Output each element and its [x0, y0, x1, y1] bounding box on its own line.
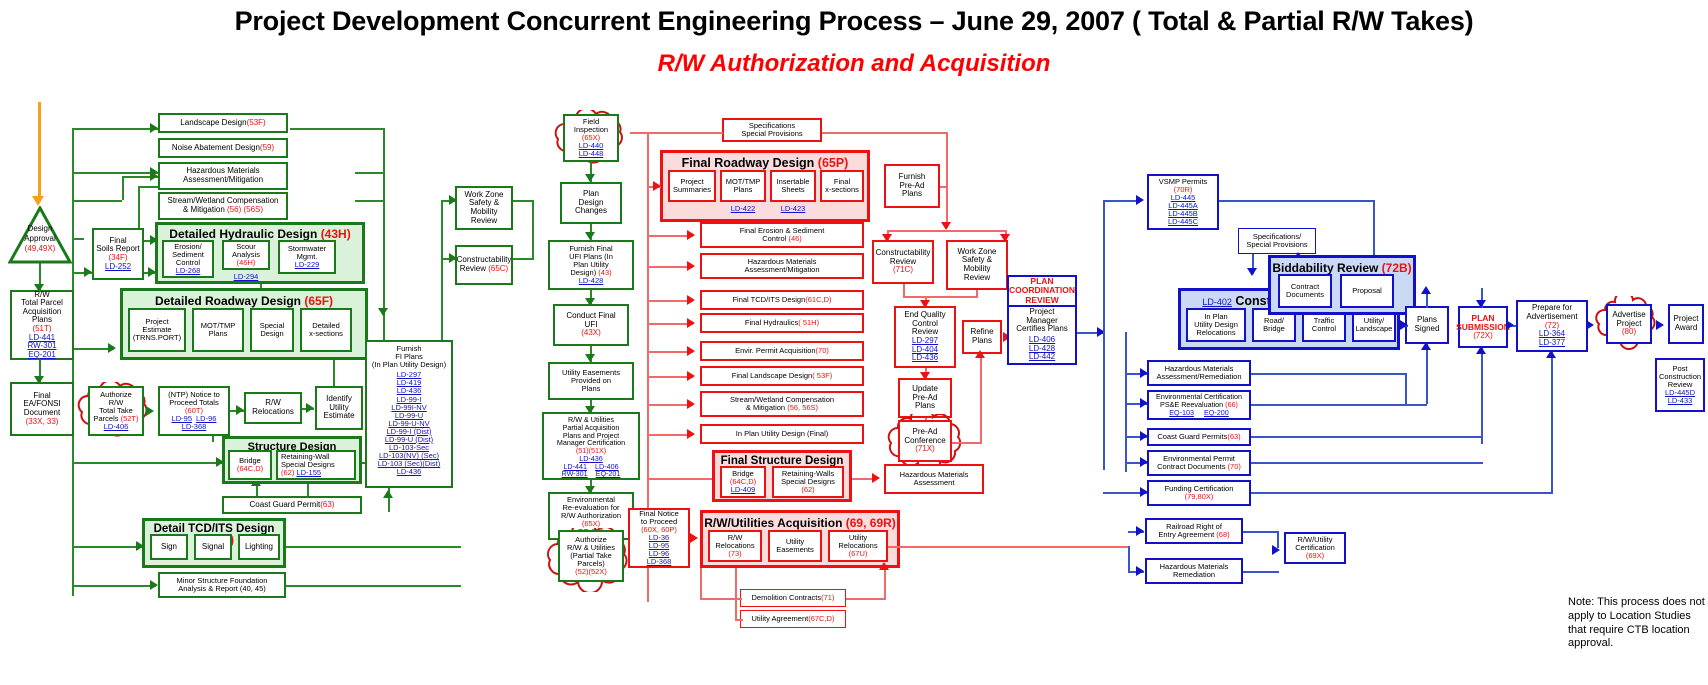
- retaining-wall-box: Retaining-Wall Special Designs (62) LD-1…: [276, 450, 356, 480]
- field-inspection-node: Field Inspection (65X) LD-440 LD-448: [563, 114, 619, 162]
- t2: Special Provisions: [741, 130, 802, 138]
- t1: Final TCD/ITS Design: [732, 296, 805, 304]
- hazmat-assessment-node: Hazardous Materials Assessment: [884, 464, 984, 494]
- bidd-title: Biddability Review: [1272, 261, 1381, 275]
- t2: Assessment/Remediation: [1156, 373, 1241, 381]
- code: (68): [1216, 530, 1229, 539]
- plans-signed-node: Plans Signed: [1405, 306, 1449, 344]
- entry-line: [38, 102, 41, 200]
- code: (63): [320, 501, 334, 510]
- t1: Envir. Permit Acquisition: [735, 347, 815, 355]
- code: (62): [801, 486, 814, 494]
- post-construction-review-node: Post Construction Review LD-445D LD-433: [1655, 358, 1705, 412]
- ln-ps-dn: [1426, 344, 1428, 404]
- landscape-design-node: Landscape Design (53F): [158, 113, 288, 133]
- t1: Proposal: [1352, 287, 1382, 295]
- label: Utility Agreement: [752, 615, 809, 623]
- ar-pdc-ufi: [585, 232, 595, 240]
- ar-ps-bidd: [1421, 286, 1431, 294]
- design-approval-l2: Approval: [8, 234, 72, 243]
- utility-easements-red-box: Utility Easements: [768, 530, 822, 562]
- code: (63): [1227, 433, 1240, 441]
- ref-2[interactable]: LD-448: [579, 150, 604, 158]
- ln-wz-f: [532, 200, 534, 258]
- t2: Assessment: [914, 479, 955, 487]
- work-zone-review-2-node: Work Zone Safety & Mobility Review: [946, 240, 1008, 290]
- ar-rl6: [687, 399, 695, 409]
- t2: Plans: [972, 337, 992, 346]
- t3: Plans: [582, 385, 601, 393]
- ln-hzr1: [1128, 546, 1130, 571]
- ln-wz-g: [512, 258, 534, 260]
- ar-rl3: [687, 318, 695, 328]
- ar-spec-down: [941, 222, 951, 230]
- t1: Final Hydraulics: [745, 319, 798, 327]
- ref[interactable]: LD-428: [579, 277, 604, 285]
- ref[interactable]: LD-409: [731, 486, 756, 494]
- code: (65C): [488, 264, 508, 273]
- furnish-pre-ad-node: Furnish Pre-Ad Plans: [884, 164, 940, 208]
- cp-ref[interactable]: LD-402: [1202, 297, 1232, 307]
- label: Landscape Design: [180, 119, 246, 128]
- t2: Plans: [734, 186, 753, 194]
- rw-relocations-red-box: R/W Relocations (73): [708, 530, 762, 562]
- ar-cfu-ue: [585, 354, 595, 362]
- special-design-box: Special Design: [250, 308, 294, 352]
- code: (79,80X): [1185, 493, 1214, 501]
- roadway-code: (65F): [304, 294, 333, 308]
- code: (52)(52X): [575, 568, 607, 576]
- update-pre-ad-node: Update Pre-Ad Plans: [898, 378, 952, 418]
- rw-utility-certification-node: R/W/Utility Certification (69X): [1284, 532, 1346, 564]
- code: (56, 56S): [787, 403, 818, 412]
- rw-total-parcel-node: R/W Total Parcel Acquisition Plans (51T)…: [10, 290, 74, 360]
- t2a: Review: [460, 264, 488, 273]
- contract-documents-box: Contract Documents: [1278, 274, 1332, 308]
- t2: Entry Agreement: [1158, 530, 1216, 539]
- t1: Final Landscape Design: [732, 372, 812, 380]
- t2: Special Provisions: [1246, 241, 1307, 249]
- mot-tmp-plans-box: MOT/TMP Plans: [720, 170, 766, 202]
- ln-ret-c: [355, 172, 385, 174]
- ln-spec-right: [822, 132, 948, 134]
- ln-rwuc1: [1243, 531, 1279, 533]
- authorize-rw-partial-node: Authorize R/W & Utilities (Partial Take …: [558, 530, 624, 582]
- ln-fc-prep: [1551, 352, 1553, 492]
- code: (80): [1622, 328, 1636, 337]
- ref-3[interactable]: LD-436: [912, 354, 938, 363]
- final-retaining-box: Retaining-Walls Special Designs (62): [772, 466, 844, 498]
- code: (73): [728, 550, 741, 558]
- t2: Design: [260, 330, 283, 338]
- ln-spec-down: [946, 132, 948, 228]
- constructability-71c-node: Constructability Review (71C): [872, 240, 934, 284]
- lighting-box: Lighting: [238, 534, 280, 560]
- ar-fi-up: [383, 490, 393, 498]
- ref[interactable]: LD-268: [176, 267, 201, 275]
- ref-2[interactable]: EQ-200: [1204, 409, 1229, 417]
- ar-vsmp: [1136, 195, 1144, 205]
- ln-dem1: [700, 568, 702, 600]
- code: (70): [1228, 462, 1241, 471]
- blue-bus: [1103, 200, 1105, 470]
- ar-rl4: [687, 346, 695, 356]
- ln-rw-right: [888, 546, 1128, 548]
- green-bus-tap: [72, 238, 84, 240]
- label: Coast Guard Permit: [250, 501, 321, 510]
- insertable-sheets-box: Insertable Sheets: [770, 170, 816, 202]
- t2: Summaries: [673, 186, 711, 194]
- work-zone-review-node: Work Zone Safety & Mobility Review: [455, 186, 513, 230]
- ln-wzjoin: [976, 290, 978, 298]
- t2: Award: [1675, 324, 1698, 333]
- ln-hz-ps: [1251, 373, 1407, 375]
- minor-structure-node: Minor Structure Foundation Analysis & Re…: [158, 572, 286, 598]
- t4: Review: [964, 274, 990, 283]
- ar-adv-award: [1656, 320, 1664, 330]
- ar-rl0: [687, 230, 695, 240]
- t2: Plans: [209, 330, 228, 338]
- prepare-advertisement-node: Prepare for Advertisement (72) LD-364 LD…: [1516, 300, 1588, 352]
- entry-arrow: [32, 196, 44, 206]
- furnish-final-ufi-node: Furnish Final UFI Plans (In Plan Utility…: [548, 240, 634, 290]
- sign-box: Sign: [150, 534, 188, 560]
- mot-tmp-box: MOT/TMP Plans: [192, 308, 244, 352]
- code: (64C,D): [237, 465, 263, 473]
- ref[interactable]: LD-252: [105, 263, 131, 272]
- page-title: Project Development Concurrent Engineeri…: [0, 6, 1708, 37]
- blue-list-item-1: Environmental Certification PS&E Reevalu…: [1147, 390, 1251, 420]
- ln-cg-psub: [1251, 436, 1483, 438]
- t2: Signed: [1415, 325, 1440, 334]
- ref-13[interactable]: LD-436: [397, 468, 422, 476]
- plan-submission-node: PLAN SUBMISSION (72X): [1458, 306, 1508, 348]
- ln-ep-psub: [1251, 462, 1483, 464]
- code: (56) (56S): [227, 205, 263, 214]
- t2: Control: [762, 234, 788, 243]
- signal-box: Signal: [194, 534, 232, 560]
- ln-dem4: [884, 566, 886, 600]
- ar-ntp-rw: [236, 405, 244, 415]
- ntp-notice-node: (NTP) Notice to Proceed Totals (60T) LD-…: [158, 386, 230, 436]
- design-approval-l1: Design: [8, 224, 72, 233]
- ref-2[interactable]: LD-377: [1539, 339, 1565, 348]
- t2: Analysis & Report (40, 45): [178, 585, 266, 593]
- code: ( 53F): [812, 372, 832, 380]
- t2: & Mitigation: [746, 403, 787, 412]
- t3: Plans: [915, 402, 935, 411]
- t3: Estimate: [323, 412, 354, 421]
- ar-ret: [378, 308, 388, 316]
- specs-special-provisions-node: Specifications Special Provisions: [722, 118, 822, 142]
- ref-b2[interactable]: EQ-201: [596, 470, 621, 478]
- code: (59): [260, 144, 274, 153]
- ln-minor-out: [286, 585, 461, 587]
- bridge-box: Bridge (64C,D): [228, 450, 272, 480]
- end-quality-node: End Quality Control Review LD-297 LD-404…: [894, 306, 956, 368]
- t3: Certifies Plans: [1016, 325, 1068, 334]
- insertable-ref[interactable]: LD-423: [770, 204, 816, 213]
- ln-fsd: [647, 478, 712, 480]
- rw-utilities-partial-node: R/W & Utilities Partial Acquisition Plan…: [542, 412, 640, 480]
- t2: Assessment/Mitigation: [744, 266, 819, 274]
- authorize-rw-total-node: Authorize R/W Total Take Parcels (52T) L…: [88, 386, 144, 436]
- t3: REVIEW: [1025, 296, 1059, 305]
- blue-specs-special-node: Specifications/ Special Provisions: [1238, 228, 1316, 254]
- utility-relocations-red-box: Utility Relocations (67U): [828, 530, 888, 562]
- ln-tcd-out: [286, 546, 461, 548]
- t2: x-sections: [309, 330, 343, 338]
- ar-psub-up: [1476, 346, 1486, 354]
- hazmat-node: Hazardous Materials Assessment/Mitigatio…: [158, 162, 288, 190]
- ar-rwuc: [1272, 545, 1280, 555]
- ar-auth-ntp: [146, 406, 154, 416]
- ln-wz-e: [512, 200, 534, 202]
- refine-plans-node: Refine Plans: [962, 320, 1002, 354]
- ar-prep-adv: [1586, 320, 1594, 330]
- rwua-title: R/W/Utilities Acquisition: [704, 516, 846, 530]
- noise-abatement-node: Noise Abatement Design (59): [158, 138, 288, 158]
- ln-fc-line: [1251, 492, 1553, 494]
- t2: Review (65C): [460, 265, 508, 274]
- ln-ua2: [735, 619, 743, 621]
- t4: Review: [471, 217, 497, 226]
- ref-b1[interactable]: RW-301: [562, 470, 588, 478]
- t3: (In Plan Utility Design): [372, 361, 446, 369]
- ar-psub-prep: [1506, 320, 1514, 330]
- t2: & Mitigation (56) (56S): [183, 206, 263, 215]
- blue-list-item-4: Funding Certification (79,80X): [1147, 480, 1251, 506]
- ln-minor: [72, 585, 156, 587]
- code: ( 51H): [798, 319, 819, 327]
- red-list-item-6: Stream/Wetland Compensation & Mitigation…: [700, 391, 864, 417]
- ln-bus-cr: [887, 230, 1007, 232]
- ref[interactable]: LD-229: [295, 261, 320, 269]
- hydraulic-code: (43H): [321, 227, 351, 241]
- ar-fi-pdc: [585, 174, 595, 182]
- coast-guard-permit-node: Coast Guard Permit (63): [222, 496, 362, 514]
- t2a: & Mitigation: [183, 205, 227, 214]
- ln-noise: [72, 172, 158, 174]
- plan-coordination-review-header: PLAN COORDINATION REVIEW: [1007, 275, 1077, 307]
- ln-vsmp-out: [1219, 200, 1375, 202]
- ln-dem3: [846, 598, 886, 600]
- ln-ret-b: [290, 128, 385, 130]
- advertise-project-node: Advertise Project (80): [1606, 304, 1652, 344]
- ln-eq-ps: [1251, 404, 1427, 406]
- code: (43X): [581, 329, 601, 338]
- code: (33X, 33): [26, 418, 59, 427]
- ln-pac-ref2: [980, 354, 982, 444]
- ln-hz-ps2: [1405, 373, 1407, 405]
- t2: Assessment/Mitigation: [183, 176, 263, 185]
- t2: Relocations: [252, 408, 294, 417]
- ar-cp-ps: [1400, 320, 1408, 330]
- design-approval-code: (49,49X): [8, 244, 72, 253]
- diagram-canvas: Project Development Concurrent Engineeri…: [0, 0, 1708, 685]
- code: (46): [788, 234, 801, 243]
- t2: Easements: [776, 546, 814, 554]
- ref[interactable]: LD-155: [296, 468, 321, 477]
- blue-list-item-3: Environmental Permit Contract Documents …: [1147, 450, 1251, 476]
- utility-agreement-node: Utility Agreement (67C,D): [740, 610, 846, 628]
- ar-hz: [150, 171, 158, 181]
- code: (67C,D): [808, 615, 834, 623]
- ar-fn-rwu: [690, 533, 698, 543]
- scour-analysis-box: Scour Analysis (46H): [222, 240, 270, 270]
- rw-relocations-node: R/W Relocations: [244, 392, 302, 424]
- ar-hzr: [1136, 566, 1144, 576]
- ln-spec: [647, 132, 723, 134]
- ar-minor: [150, 580, 158, 590]
- red-list-item-2: Final TCD/ITS Design (61C,D): [700, 290, 864, 310]
- ln-psub-up: [1481, 348, 1483, 444]
- code: (69X): [1306, 552, 1324, 560]
- demolition-contracts-node: Demolition Contracts (71): [740, 589, 846, 607]
- ar-rr: [1136, 526, 1144, 536]
- design-approval-node: Design Approval (49,49X): [8, 206, 72, 264]
- final-soils-node: Final Soils Report (34F) LD-252: [92, 228, 144, 280]
- t2: Control: [1312, 325, 1336, 333]
- ar-bspec-dn: [1247, 268, 1257, 276]
- page-subtitle: R/W Authorization and Acquisition: [0, 50, 1708, 78]
- code: (71X): [915, 445, 935, 454]
- proposal-box: Proposal: [1340, 274, 1394, 308]
- ln-rwuc3: [1243, 571, 1279, 573]
- ln-ua1: [735, 568, 737, 619]
- constructability-65c-node: Constructability Review (65C): [455, 245, 513, 285]
- scour-ref[interactable]: LD-294: [222, 272, 270, 281]
- final-ea-fonsi-node: Final EA/FONSI Document (33X, 33): [10, 382, 74, 436]
- ln-structure: [72, 462, 222, 464]
- ln-sw-b: [138, 186, 158, 188]
- ar-frd: [653, 181, 661, 191]
- ref-1[interactable]: EQ-103: [1169, 409, 1194, 417]
- ln-crjoin2: [903, 296, 977, 298]
- t2: Landscape: [1356, 325, 1393, 333]
- t2: Documents: [1286, 291, 1324, 299]
- ref[interactable]: LD-406: [104, 423, 129, 431]
- t3: (TRNS.PORT): [133, 334, 181, 342]
- stream-wetland-node: Stream/Wetland Compensation & Mitigation…: [158, 192, 288, 220]
- label: Demolition Contracts: [752, 594, 822, 602]
- ar-fs-haz: [872, 473, 880, 483]
- t2: Sheets: [781, 186, 804, 194]
- ref-3[interactable]: LD-368: [182, 423, 207, 431]
- project-estimate-box: Project Estimate (TRNS.PORT): [128, 308, 186, 352]
- vsmp-permits-node: VSMP Permits (70R) LD-445 LD-445A LD-445…: [1147, 174, 1219, 230]
- code: (71C): [893, 266, 913, 275]
- ln-wz-spine: [441, 200, 443, 260]
- t1: In Plan Utility Design (Final): [736, 430, 829, 438]
- code: (72X): [1473, 332, 1493, 341]
- t1: Coast Guard Permits: [1157, 433, 1227, 441]
- ar-soils: [84, 267, 92, 277]
- t1: Sign: [161, 543, 177, 552]
- ln-hz-a: [72, 200, 122, 202]
- railroad-row-node: Railroad Right of Entry Agreement (68): [1145, 518, 1243, 544]
- t1: Lighting: [245, 543, 273, 552]
- plan-coordination-review-body: Project Manager Certifies Plans LD-406 L…: [1007, 305, 1077, 365]
- ar-fc-prep: [1546, 350, 1556, 358]
- roadway-title: Detailed Roadway Design: [155, 294, 304, 308]
- red-list-item-4: Envir. Permit Acquisition (70): [700, 341, 864, 361]
- ln-ret-d: [355, 200, 385, 202]
- ar-rl1: [687, 261, 695, 271]
- red-list-item-7: In Plan Utility Design (Final): [700, 424, 864, 444]
- ar-rl2: [687, 295, 695, 305]
- final-roadway-code: (65P): [818, 156, 849, 170]
- code: (53F): [247, 119, 266, 128]
- ln-pac-ref: [952, 442, 982, 444]
- ar-rl7: [687, 429, 695, 439]
- mot-ref[interactable]: LD-422: [720, 204, 766, 213]
- code: (46H): [237, 259, 256, 267]
- hydraulic-title: Detailed Hydraulic Design: [169, 227, 320, 241]
- stormwater-box: Stormwater Mgmt. LD-229: [278, 240, 336, 274]
- project-summaries-box: Project Summaries: [668, 170, 716, 202]
- erosion-sediment-box: Erosion/ Sediment Control LD-268: [162, 240, 214, 278]
- t3: Plans: [902, 190, 922, 199]
- ln-fpa: [940, 186, 948, 188]
- blue-list-item-0: Hazardous Materials Assessment/Remediati…: [1147, 360, 1251, 386]
- red-list-item-5: Final Landscape Design ( 53F): [700, 366, 864, 386]
- ar-ps-up: [1421, 342, 1431, 350]
- t2: x-sections: [825, 186, 859, 194]
- ar-pac-ref: [975, 350, 985, 358]
- utility-easements-node: Utility Easements Provided on Plans: [548, 362, 634, 400]
- code: (67U): [849, 550, 868, 558]
- ref-3[interactable]: LD-442: [1029, 353, 1055, 362]
- t2: Contract Documents: [1157, 462, 1227, 471]
- ref-4[interactable]: LD-368: [647, 558, 672, 566]
- ar-landscape: [150, 123, 158, 133]
- bidd-code: (72B): [1382, 261, 1412, 275]
- final-bridge-box: Bridge (64C,D) LD-409: [720, 466, 766, 498]
- project-award-node: Project Award: [1668, 304, 1704, 344]
- blue-bus2: [1125, 332, 1127, 472]
- red-list-item-1: Hazardous Materials Assessment/Mitigatio…: [700, 253, 864, 279]
- t3: Relocations: [1196, 329, 1235, 337]
- pre-ad-conference-node: Pre-Ad Conference (71X): [898, 420, 952, 462]
- detailed-xsections-box: Detailed x-sections: [300, 308, 352, 352]
- code: (61C,D): [805, 296, 831, 304]
- final-xsections-box: Final x-sections: [820, 170, 864, 202]
- furnish-fi-plans-node: Furnish FI Plans (In Plan Utility Design…: [365, 340, 453, 488]
- rwua-code: (69, 69R): [846, 516, 896, 530]
- ln-tcd: [72, 546, 142, 548]
- blue-list-item-2: Coast Guard Permits (63): [1147, 428, 1251, 446]
- ar-bidd-psub: [1476, 300, 1486, 308]
- inplan-utility-design-box: In Plan Utility Design Relocations: [1186, 308, 1246, 342]
- t2: Bridge: [1263, 325, 1285, 333]
- final-notice-node: Final Notice to Proceed (60X, 60P) LD-36…: [628, 508, 690, 568]
- ref-2[interactable]: LD-433: [1668, 397, 1693, 405]
- hazmat-remediation-node: Hazardous Materials Remediation: [1145, 558, 1243, 584]
- ar-dem-up: [879, 562, 889, 570]
- ref-3[interactable]: EQ-201: [28, 351, 56, 360]
- ar-roadway: [108, 343, 116, 353]
- code: (71): [821, 594, 834, 602]
- t1: Signal: [202, 543, 224, 552]
- red-list-item-0: Final Erosion & Sediment Control (46): [700, 222, 864, 248]
- ln-hz-b: [122, 176, 124, 200]
- ref-4[interactable]: LD-445C: [1168, 218, 1198, 226]
- code: (62): [281, 468, 294, 477]
- red-list-item-3: Final Hydraulics ( 51H): [700, 313, 864, 333]
- final-roadway-title: Final Roadway Design: [682, 156, 818, 170]
- t2: Remediation: [1173, 571, 1215, 579]
